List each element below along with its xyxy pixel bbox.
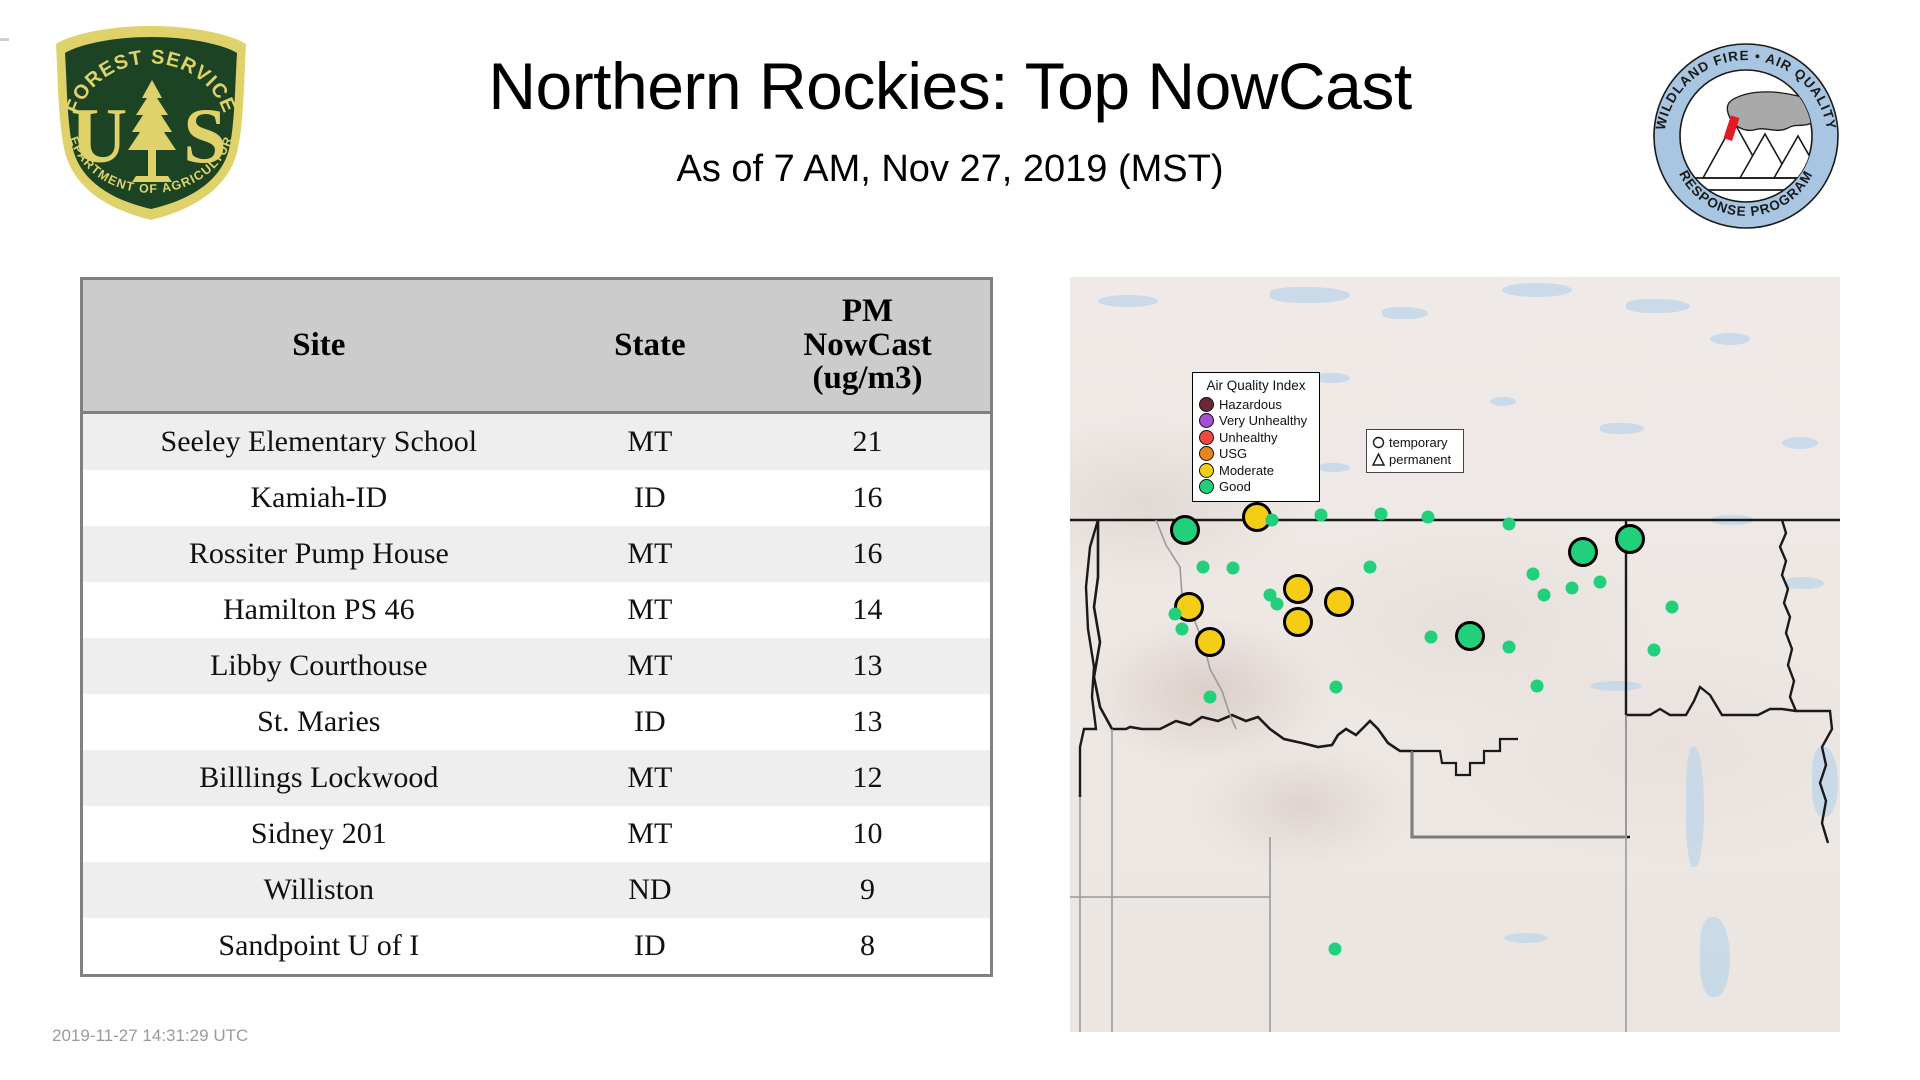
value-cell: 16 (745, 470, 990, 526)
monitor-marker[interactable] (1566, 582, 1579, 595)
state-cell: MT (555, 638, 745, 694)
table-row: Billlings LockwoodMT12 (83, 750, 990, 806)
monitor-marker[interactable] (1422, 511, 1435, 524)
value-cell: 13 (745, 694, 990, 750)
legend-row-permanent: permanent (1372, 451, 1458, 468)
aqi-legend-label: Unhealthy (1219, 430, 1278, 445)
monitor-marker[interactable] (1197, 561, 1210, 574)
table-row: Hamilton PS 46MT14 (83, 582, 990, 638)
left-edge-tick (0, 38, 9, 41)
monitor-marker[interactable] (1375, 508, 1388, 521)
column-header-pm-line3: (ug/m3) (749, 362, 986, 396)
monitor-marker[interactable] (1283, 574, 1313, 604)
monitor-marker[interactable] (1271, 598, 1284, 611)
aqi-legend-row: Hazardous (1199, 396, 1313, 413)
aqi-legend-swatch (1199, 446, 1214, 461)
monitor-marker[interactable] (1503, 641, 1516, 654)
table-row: Rossiter Pump HouseMT16 (83, 526, 990, 582)
monitor-marker[interactable] (1195, 627, 1225, 657)
monitor-marker[interactable] (1527, 568, 1540, 581)
page-subtitle: As of 7 AM, Nov 27, 2019 (MST) (260, 148, 1640, 191)
aqi-legend-row: Moderate (1199, 462, 1313, 479)
aqi-legend-swatch (1199, 479, 1214, 494)
site-cell: Sidney 201 (83, 806, 555, 862)
aqi-legend-label: Hazardous (1219, 397, 1282, 412)
monitor-marker[interactable] (1455, 621, 1485, 651)
column-header-pm-line2: NowCast (749, 329, 986, 363)
monitor-marker[interactable] (1648, 644, 1661, 657)
table-row: Sidney 201MT10 (83, 806, 990, 862)
aqi-legend-swatch (1199, 463, 1214, 478)
column-header-pm-nowcast: PM NowCast (ug/m3) (745, 280, 990, 413)
state-cell: ND (555, 862, 745, 918)
svg-text:U: U (71, 92, 127, 179)
site-cell: Kamiah-ID (83, 470, 555, 526)
state-cell: ID (555, 694, 745, 750)
state-cell: MT (555, 413, 745, 471)
legend-row-temporary: temporary (1372, 434, 1458, 451)
aqi-legend-row: Very Unhealthy (1199, 413, 1313, 430)
top-nowcast-table: Site State PM NowCast (ug/m3) Seeley Ele… (80, 277, 993, 977)
monitor-marker[interactable] (1170, 515, 1200, 545)
monitor-type-legend: temporary permanent (1366, 429, 1464, 473)
site-cell: Hamilton PS 46 (83, 582, 555, 638)
table-row: Seeley Elementary SchoolMT21 (83, 413, 990, 471)
table-row: Sandpoint U of IID8 (83, 918, 990, 974)
monitor-marker[interactable] (1425, 631, 1438, 644)
aqi-legend-swatch (1199, 397, 1214, 412)
page-title: Northern Rockies: Top NowCast (260, 48, 1640, 124)
monitor-marker[interactable] (1531, 680, 1544, 693)
table-body: Seeley Elementary SchoolMT21Kamiah-IDID1… (83, 413, 990, 975)
table-row: Libby CourthouseMT13 (83, 638, 990, 694)
aqi-legend-row: Unhealthy (1199, 429, 1313, 446)
usfs-forest-service-logo: FOREST SERVICE DEPARTMENT OF AGRICULTURE… (48, 22, 254, 224)
column-header-state: State (555, 280, 745, 413)
aqi-legend: Air Quality Index HazardousVery Unhealth… (1192, 372, 1320, 502)
state-cell: ID (555, 918, 745, 974)
value-cell: 13 (745, 638, 990, 694)
aqi-legend-label: Very Unhealthy (1219, 413, 1307, 428)
monitor-marker[interactable] (1666, 601, 1679, 614)
aqi-legend-label: USG (1219, 446, 1247, 461)
monitor-marker[interactable] (1615, 524, 1645, 554)
value-cell: 8 (745, 918, 990, 974)
monitor-marker[interactable] (1227, 562, 1240, 575)
column-header-pm-line1: PM (749, 295, 986, 329)
aqi-legend-label: Good (1219, 479, 1251, 494)
site-cell: Rossiter Pump House (83, 526, 555, 582)
table-header-row: Site State PM NowCast (ug/m3) (83, 280, 990, 413)
monitor-marker[interactable] (1329, 943, 1342, 956)
value-cell: 10 (745, 806, 990, 862)
monitor-marker[interactable] (1176, 623, 1189, 636)
aqi-legend-row: USG (1199, 446, 1313, 463)
monitor-marker[interactable] (1594, 576, 1607, 589)
aqi-legend-swatch (1199, 413, 1214, 428)
triangle-marker-icon (1372, 452, 1385, 467)
table-row: WillistonND9 (83, 862, 990, 918)
state-cell: MT (555, 806, 745, 862)
state-boundaries (1070, 277, 1840, 1032)
monitor-marker[interactable] (1568, 537, 1598, 567)
aqi-legend-label: Moderate (1219, 463, 1274, 478)
monitor-marker[interactable] (1315, 509, 1328, 522)
monitor-marker[interactable] (1330, 681, 1343, 694)
value-cell: 21 (745, 413, 990, 471)
state-cell: MT (555, 582, 745, 638)
site-cell: Libby Courthouse (83, 638, 555, 694)
value-cell: 12 (745, 750, 990, 806)
value-cell: 9 (745, 862, 990, 918)
monitor-marker[interactable] (1204, 691, 1217, 704)
column-header-site: Site (83, 280, 555, 413)
site-cell: St. Maries (83, 694, 555, 750)
site-cell: Seeley Elementary School (83, 413, 555, 471)
site-cell: Sandpoint U of I (83, 918, 555, 974)
legend-label-permanent: permanent (1389, 452, 1451, 467)
monitor-marker[interactable] (1266, 514, 1279, 527)
state-cell: MT (555, 750, 745, 806)
aqi-legend-title: Air Quality Index (1199, 378, 1313, 393)
site-cell: Williston (83, 862, 555, 918)
generation-timestamp: 2019-11-27 14:31:29 UTC (52, 1026, 248, 1046)
value-cell: 16 (745, 526, 990, 582)
air-quality-monitor-map[interactable]: Air Quality Index HazardousVery Unhealth… (1070, 277, 1840, 1032)
wildland-fire-air-quality-response-program-logo: WILDLAND FIRE • AIR QUALITY RESPONSE PRO… (1648, 38, 1844, 234)
site-cell: Billlings Lockwood (83, 750, 555, 806)
svg-text:S: S (183, 92, 226, 179)
table-row: Kamiah-IDID16 (83, 470, 990, 526)
state-cell: ID (555, 470, 745, 526)
value-cell: 14 (745, 582, 990, 638)
state-cell: MT (555, 526, 745, 582)
monitor-marker[interactable] (1169, 608, 1182, 621)
monitor-marker[interactable] (1364, 561, 1377, 574)
aqi-legend-swatch (1199, 430, 1214, 445)
table-row: St. MariesID13 (83, 694, 990, 750)
legend-label-temporary: temporary (1389, 435, 1448, 450)
monitor-marker[interactable] (1283, 607, 1313, 637)
aqi-legend-row: Good (1199, 479, 1313, 496)
monitor-marker[interactable] (1538, 589, 1551, 602)
circle-marker-icon (1372, 435, 1385, 450)
monitor-marker[interactable] (1324, 587, 1354, 617)
monitor-marker[interactable] (1503, 518, 1516, 531)
